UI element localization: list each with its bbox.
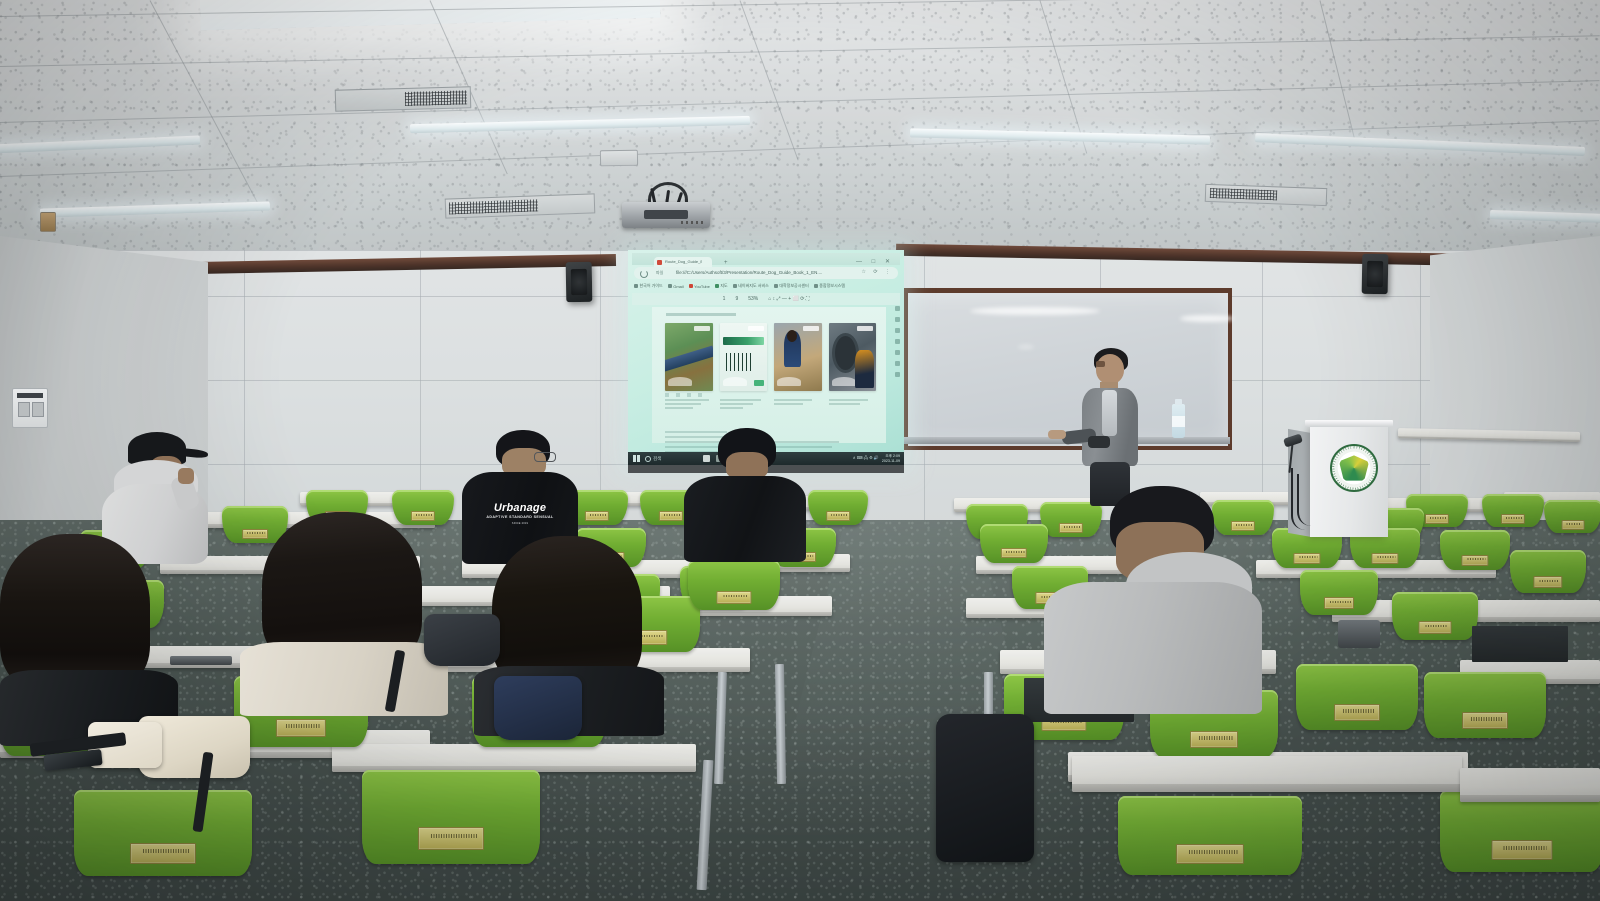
pdf-page bbox=[652, 307, 886, 443]
ceiling-fixture-small bbox=[40, 212, 56, 232]
bookmarks-bar: 한국어 가이드 Gmail YouTube 지도 네이버지도 서비스 대학정보공… bbox=[634, 281, 898, 291]
light-switch-panel[interactable] bbox=[12, 388, 48, 428]
audience-member-black-jacket bbox=[684, 428, 806, 560]
card-caption-block bbox=[777, 377, 801, 386]
address-text: file:///C:/Users/Authsoft/3/Presentation… bbox=[676, 269, 838, 277]
pdf-zoom-level[interactable]: 53% bbox=[748, 296, 758, 302]
front-desk-far-right bbox=[1460, 768, 1600, 802]
omnibox-icons[interactable]: ☆ ⟳ ⋮ bbox=[862, 269, 893, 275]
bookmark-label: 종합정보시스템 bbox=[819, 283, 845, 289]
chair[interactable] bbox=[1392, 592, 1478, 658]
ceiling bbox=[0, 0, 1600, 252]
lectern-cable-2 bbox=[1297, 474, 1311, 526]
wall-speaker-left bbox=[566, 262, 593, 302]
presenter-left-hand bbox=[1048, 430, 1066, 439]
system-tray[interactable]: ∧ ⌨ 🖧 ⚙ 🔊 오후 2:09 2023-11-09 bbox=[853, 454, 900, 463]
side-icon-4[interactable] bbox=[895, 339, 900, 344]
pipe-trench-photo bbox=[665, 323, 713, 391]
chair[interactable] bbox=[1296, 664, 1418, 756]
tab-favicon bbox=[657, 260, 662, 265]
new-tab-button[interactable]: + bbox=[724, 260, 728, 266]
shirt-brand-text: Urbanage bbox=[462, 502, 578, 514]
lectern-top bbox=[1305, 420, 1393, 427]
search-icon bbox=[645, 456, 651, 462]
card-badge bbox=[694, 326, 710, 331]
desk-item bbox=[170, 656, 232, 665]
card-caption-block bbox=[832, 377, 856, 386]
card-badge bbox=[748, 326, 764, 331]
start-button-icon[interactable] bbox=[633, 455, 640, 462]
wall-speaker-right bbox=[1362, 254, 1389, 294]
presenter bbox=[1078, 348, 1140, 506]
content-card-row bbox=[665, 323, 876, 391]
card-caption-block bbox=[668, 377, 692, 386]
bookmark-icon bbox=[634, 284, 638, 288]
bookmark-icon bbox=[668, 284, 672, 288]
side-icon-3[interactable] bbox=[895, 328, 900, 333]
card-badge bbox=[857, 326, 873, 331]
presenter-head bbox=[1096, 354, 1124, 384]
bookmark-label: 네이버지도 서비스 bbox=[738, 283, 769, 289]
card-captions bbox=[665, 399, 876, 417]
chair[interactable] bbox=[688, 560, 780, 630]
projector bbox=[622, 196, 710, 228]
ceiling-sensor-box bbox=[600, 150, 638, 167]
bookmark-item[interactable]: 대학정보공시센터 bbox=[774, 283, 809, 289]
grey-hoodie bbox=[1044, 582, 1262, 714]
reload-icon[interactable] bbox=[640, 270, 648, 278]
bookmark-item[interactable]: 네이버지도 서비스 bbox=[733, 283, 769, 289]
card-markers bbox=[665, 393, 876, 398]
side-icon-6[interactable] bbox=[895, 361, 900, 366]
bookmark-item[interactable]: YouTube bbox=[689, 284, 710, 289]
taskbar-search[interactable]: 검색 bbox=[645, 456, 661, 462]
pdf-tool-icons[interactable]: ⌂ ↕ ⤢ — + ⬜ ⟳ ⛶ bbox=[768, 296, 809, 302]
front-desk-right-2 bbox=[1072, 756, 1462, 792]
card-badge bbox=[803, 326, 819, 331]
browser-titlebar: Route_Dog_Guide_Book_1_EN + — □ ✕ bbox=[632, 253, 900, 265]
manhole-inspection-photo bbox=[829, 323, 877, 391]
chair[interactable] bbox=[1424, 672, 1546, 764]
bookmark-item[interactable]: Gmail bbox=[668, 284, 684, 289]
bookmark-item[interactable]: 지도 bbox=[715, 283, 728, 289]
shirt-subtext: ADAPTIVE STANDARD SENSUAL bbox=[462, 515, 578, 519]
classroom-presentation-photo: Route_Dog_Guide_Book_1_EN + — □ ✕ 파일 fil… bbox=[0, 0, 1600, 901]
ceiling-tile-texture bbox=[0, 0, 1600, 252]
bookmark-icon bbox=[733, 284, 737, 288]
pdf-page-total: 9 bbox=[735, 296, 738, 302]
side-icon-5[interactable] bbox=[895, 350, 900, 355]
chair[interactable] bbox=[74, 790, 252, 901]
taskbar-clock[interactable]: 오후 2:09 2023-11-09 bbox=[882, 454, 900, 463]
bookmark-label: 지도 bbox=[720, 283, 727, 289]
file-icon: 파일 bbox=[656, 270, 663, 276]
map-icon bbox=[715, 284, 719, 288]
audience-hand bbox=[178, 468, 194, 484]
black-backpack bbox=[424, 614, 500, 666]
chair[interactable] bbox=[1440, 790, 1600, 901]
clock-time: 오후 2:09 bbox=[885, 454, 900, 458]
bookmark-item[interactable]: 종합정보시스템 bbox=[814, 283, 845, 289]
bookmark-icon bbox=[814, 284, 818, 288]
chair[interactable] bbox=[362, 770, 540, 900]
navy-backpack bbox=[494, 676, 582, 740]
black-bag-on-chair bbox=[936, 714, 1034, 862]
chair[interactable] bbox=[1440, 530, 1510, 586]
side-icon-7[interactable] bbox=[895, 372, 900, 377]
bookmark-item[interactable]: 한국어 가이드 bbox=[634, 283, 663, 289]
search-label: 검색 bbox=[653, 456, 661, 462]
bookmark-icon bbox=[774, 284, 778, 288]
bookmark-label: 한국어 가이드 bbox=[640, 283, 663, 289]
address-bar[interactable]: 파일 file:///C:/Users/Authsoft/3/Presentat… bbox=[634, 267, 898, 279]
chair[interactable] bbox=[1544, 500, 1600, 546]
bookmark-label: 대학정보공시센터 bbox=[779, 283, 808, 289]
black-puffer-jacket bbox=[684, 476, 806, 562]
university-emblem-icon bbox=[1330, 444, 1378, 492]
side-icon-2[interactable] bbox=[895, 317, 900, 322]
eyeglasses-icon bbox=[534, 452, 556, 462]
projector-body bbox=[622, 202, 710, 228]
desk-modesty-panel bbox=[1472, 626, 1568, 662]
green-diagram-card bbox=[720, 323, 768, 391]
window-controls[interactable]: — □ ✕ bbox=[856, 258, 894, 265]
pdf-toolbar[interactable]: 1 9 53% ⌂ ↕ ⤢ — + ⬜ ⟳ ⛶ bbox=[632, 293, 900, 305]
tray-icons[interactable]: ∧ ⌨ 🖧 ⚙ 🔊 bbox=[853, 455, 879, 462]
tab-title: Route_Dog_Guide_Book_1_EN bbox=[665, 259, 702, 265]
chair[interactable] bbox=[1118, 796, 1302, 901]
pdf-page-current: 1 bbox=[723, 296, 726, 302]
fieldwork-photo bbox=[774, 323, 822, 391]
presenter-face-shadow bbox=[1096, 361, 1105, 367]
side-icon-1[interactable] bbox=[895, 306, 900, 311]
presenter-shirt bbox=[1102, 390, 1117, 436]
card-caption-block bbox=[723, 377, 747, 386]
slide-heading bbox=[666, 313, 736, 316]
audience-member-grey-hoodie-right bbox=[1044, 486, 1262, 712]
ceiling-vent-1 bbox=[335, 86, 472, 112]
bookmark-label: Gmail bbox=[673, 284, 683, 289]
bookmark-label: YouTube bbox=[694, 284, 710, 289]
desk-item-cup bbox=[1338, 620, 1380, 648]
cream-top bbox=[240, 642, 448, 716]
clock-date: 2023-11-09 bbox=[882, 459, 900, 463]
presentation-clicker[interactable] bbox=[1088, 436, 1110, 448]
browser-side-toolbar[interactable] bbox=[893, 302, 902, 441]
audience-member-long-hair-left bbox=[0, 534, 178, 744]
water-bottle bbox=[1172, 404, 1185, 438]
youtube-icon bbox=[689, 284, 693, 288]
audience-member-long-hair-mid bbox=[240, 512, 448, 712]
shirt-subtext-2: SINCE 2019 bbox=[462, 522, 578, 525]
